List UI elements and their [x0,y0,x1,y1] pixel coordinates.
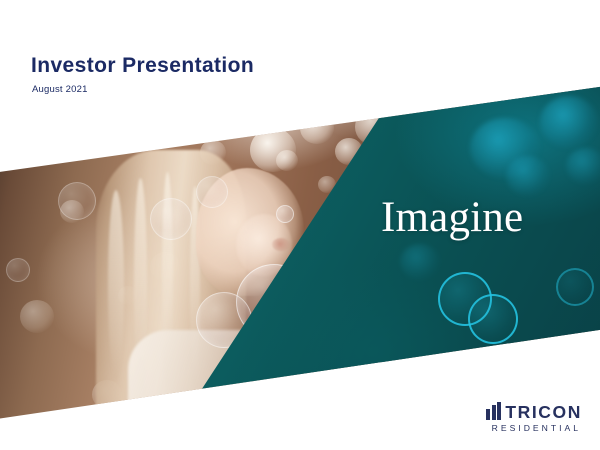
title-block: Investor Presentation August 2021 [31,55,254,95]
logo-subtext: RESIDENTIAL [492,424,581,433]
tricon-residential-logo: TRICON RESIDENTIAL [486,402,582,433]
hero-tagline: Imagine [381,196,523,239]
presentation-slide: Investor Presentation August 2021 [0,0,600,450]
logo-wordmark: TRICON [505,404,582,422]
page-subtitle-date: August 2021 [32,84,254,95]
page-title: Investor Presentation [31,55,254,77]
three-ascending-bars-icon [486,402,501,420]
logo-lockup: TRICON [486,402,582,420]
